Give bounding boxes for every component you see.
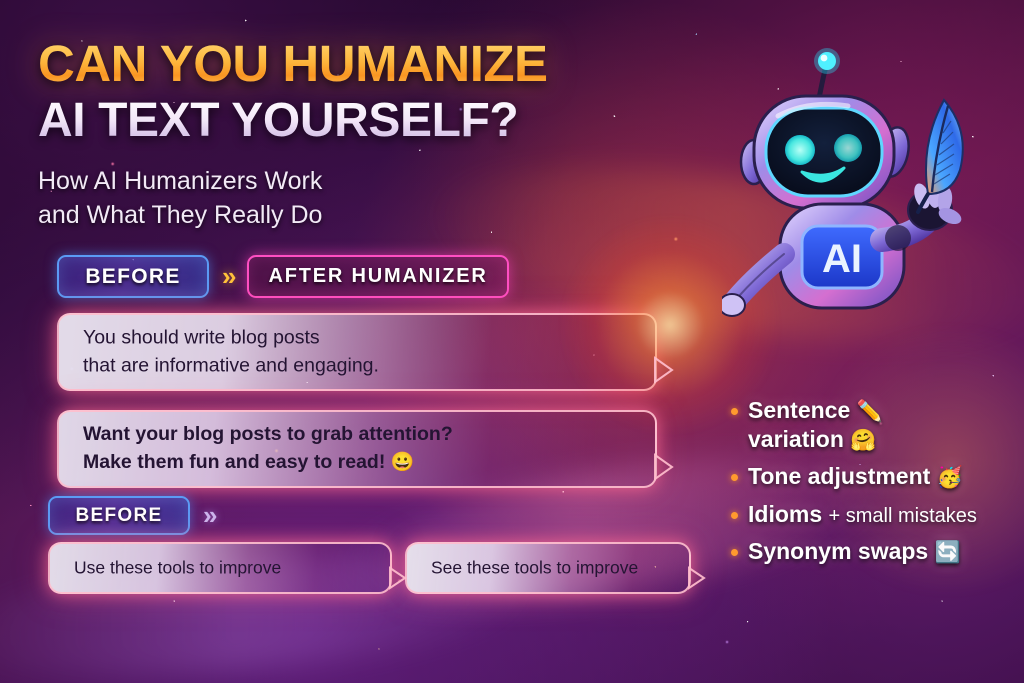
- bubble-tail-icon: [389, 567, 407, 589]
- list-item: Tone adjustment 🥳: [731, 462, 1021, 491]
- bubble-line2: that are informative and engaging.: [83, 352, 379, 380]
- bubble-line1: Want your blog posts to grab attention?: [83, 421, 453, 449]
- pencil-icon: ✏️: [857, 400, 883, 423]
- bubble-line1: You should write blog posts: [83, 324, 379, 352]
- subtitle-line1: How AI Humanizers Work: [38, 165, 698, 198]
- party-face-icon: 🥳: [937, 466, 963, 489]
- comparison-badge-row-bottom: BEFORE »: [48, 496, 228, 535]
- badge-before-top[interactable]: BEFORE: [57, 255, 209, 298]
- chevron-right-icon: »: [222, 261, 234, 292]
- bullet-label: Synonym swaps 🔄: [748, 537, 961, 566]
- bubble-text: Use these tools to improve: [74, 556, 281, 581]
- ai-robot-mascot: AI: [722, 44, 1018, 330]
- bullet-dot-icon: [731, 474, 738, 481]
- speech-bubble-before-text: You should write blog posts that are inf…: [57, 313, 657, 391]
- bullet-label: Tone adjustment 🥳: [748, 462, 963, 491]
- infographic-canvas: CAN YOU HUMANIZE AI TEXT YOURSELF? How A…: [0, 0, 1024, 683]
- bubble-text: You should write blog posts that are inf…: [83, 324, 379, 379]
- subtitle-line2: and What They Really Do: [38, 199, 698, 232]
- list-item: Sentence ✏️ variation 🤗: [731, 396, 1021, 453]
- bubble-text: See these tools to improve: [431, 556, 638, 581]
- bubble-tail-icon: [654, 357, 674, 383]
- subtitle: How AI Humanizers Work and What They Rea…: [38, 165, 698, 232]
- bubble-tail-icon: [688, 567, 706, 589]
- bubble-line2: Make them fun and easy to read! 😀: [83, 449, 453, 477]
- speech-bubble-after-text: Want your blog posts to grab attention? …: [57, 410, 657, 488]
- refresh-arrows-icon: 🔄: [935, 541, 961, 564]
- smiley-face-icon: 😀: [391, 452, 415, 473]
- speech-bubble-after-small: See these tools to improve: [405, 542, 691, 594]
- bubble-text: Want your blog posts to grab attention? …: [83, 421, 453, 477]
- badge-after-humanizer[interactable]: AFTER HUMANIZER: [247, 255, 508, 298]
- list-item: Idioms + small mistakes: [731, 500, 1021, 528]
- bubble-tail-icon: [654, 454, 674, 480]
- list-item: Synonym swaps 🔄: [731, 537, 1021, 566]
- bullet-label: Idioms + small mistakes: [748, 500, 977, 528]
- feature-bullet-list: Sentence ✏️ variation 🤗 Tone adjustment …: [731, 396, 1021, 575]
- chevron-right-icon-pale: »: [203, 500, 215, 531]
- bullet-label: Sentence ✏️ variation 🤗: [748, 396, 883, 453]
- badge-before-bottom[interactable]: BEFORE: [48, 496, 190, 535]
- hugging-face-icon: 🤗: [850, 429, 876, 452]
- bullet-suffix: + small mistakes: [829, 505, 977, 527]
- bullet-dot-icon: [731, 549, 738, 556]
- comparison-badge-row-top: BEFORE » AFTER HUMANIZER: [57, 255, 509, 298]
- speech-bubble-before-small: Use these tools to improve: [48, 542, 392, 594]
- page-title-line2: AI TEXT YOURSELF?: [38, 96, 698, 146]
- page-title-line1: CAN YOU HUMANIZE: [38, 38, 698, 90]
- robot-chest-label: AI: [822, 237, 862, 281]
- bullet-dot-icon: [731, 408, 738, 415]
- bullet-dot-icon: [731, 512, 738, 519]
- headline-block: CAN YOU HUMANIZE AI TEXT YOURSELF? How A…: [38, 38, 698, 232]
